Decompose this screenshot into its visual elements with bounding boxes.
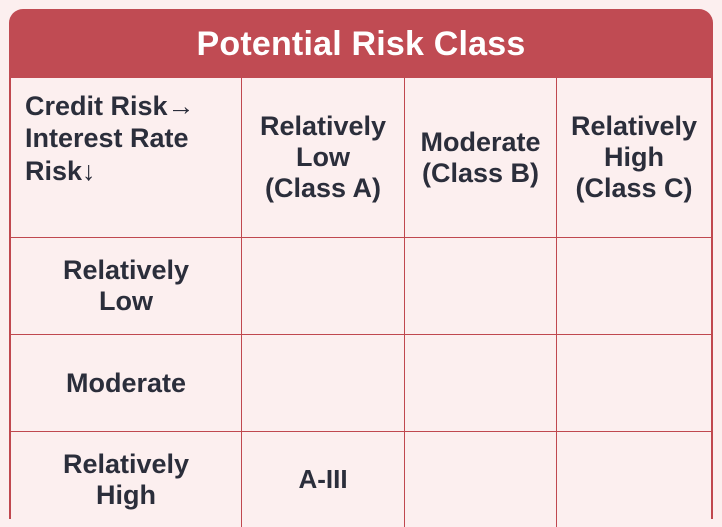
row-header-moderate-line1: Moderate: [66, 368, 186, 398]
column-header-class-a-label: (Class A): [265, 173, 381, 203]
row-header-moderate: Moderate: [11, 335, 242, 432]
row-header-relatively-low-line1: Relatively: [63, 255, 189, 285]
table-cell-row2-class-c: [557, 335, 711, 432]
column-header-class-a-line1: Relatively: [260, 111, 386, 141]
table-cell-row2-class-b: [405, 335, 557, 432]
row-header-relatively-high: Relatively High: [11, 432, 242, 527]
table-cell-row3-class-a: A-III: [242, 432, 405, 527]
table-cell-row1-class-a: [242, 238, 405, 335]
table-grid: Credit Risk→ Interest Rate Risk↓ Relativ…: [9, 78, 713, 519]
column-header-class-c-line1: Relatively: [571, 111, 697, 141]
corner-header-line3: Risk: [25, 156, 82, 186]
table-cell-row1-class-b: [405, 238, 557, 335]
risk-class-table: Potential Risk Class Credit Risk→ Intere…: [9, 9, 713, 519]
column-header-class-c: Relatively High (Class C): [557, 78, 711, 238]
table-title-band: Potential Risk Class: [9, 9, 713, 78]
page-title: Potential Risk Class: [196, 27, 525, 61]
down-arrow-icon: ↓: [82, 156, 96, 186]
column-header-class-b-line1: Moderate: [420, 127, 540, 157]
table-corner-header: Credit Risk→ Interest Rate Risk↓: [11, 78, 242, 238]
table-cell-row2-class-a: [242, 335, 405, 432]
table-cell-row3-class-b: [405, 432, 557, 527]
row-header-relatively-low-line2: Low: [99, 286, 153, 316]
row-header-relatively-high-line2: High: [96, 480, 156, 510]
column-header-class-c-label: (Class C): [575, 173, 692, 203]
row-header-relatively-high-line1: Relatively: [63, 449, 189, 479]
column-header-class-b-label: (Class B): [422, 158, 539, 188]
right-arrow-icon: →: [168, 91, 195, 121]
column-header-class-a: Relatively Low (Class A): [242, 78, 405, 238]
corner-header-line1: Credit Risk: [25, 91, 168, 121]
column-header-class-a-line2: Low: [296, 142, 350, 172]
table-cell-row1-class-c: [557, 238, 711, 335]
table-cell-row3-class-c: [557, 432, 711, 527]
row-header-relatively-low: Relatively Low: [11, 238, 242, 335]
corner-header-line2: Interest Rate: [25, 123, 189, 153]
column-header-class-b: Moderate (Class B): [405, 78, 557, 238]
column-header-class-c-line2: High: [604, 142, 664, 172]
